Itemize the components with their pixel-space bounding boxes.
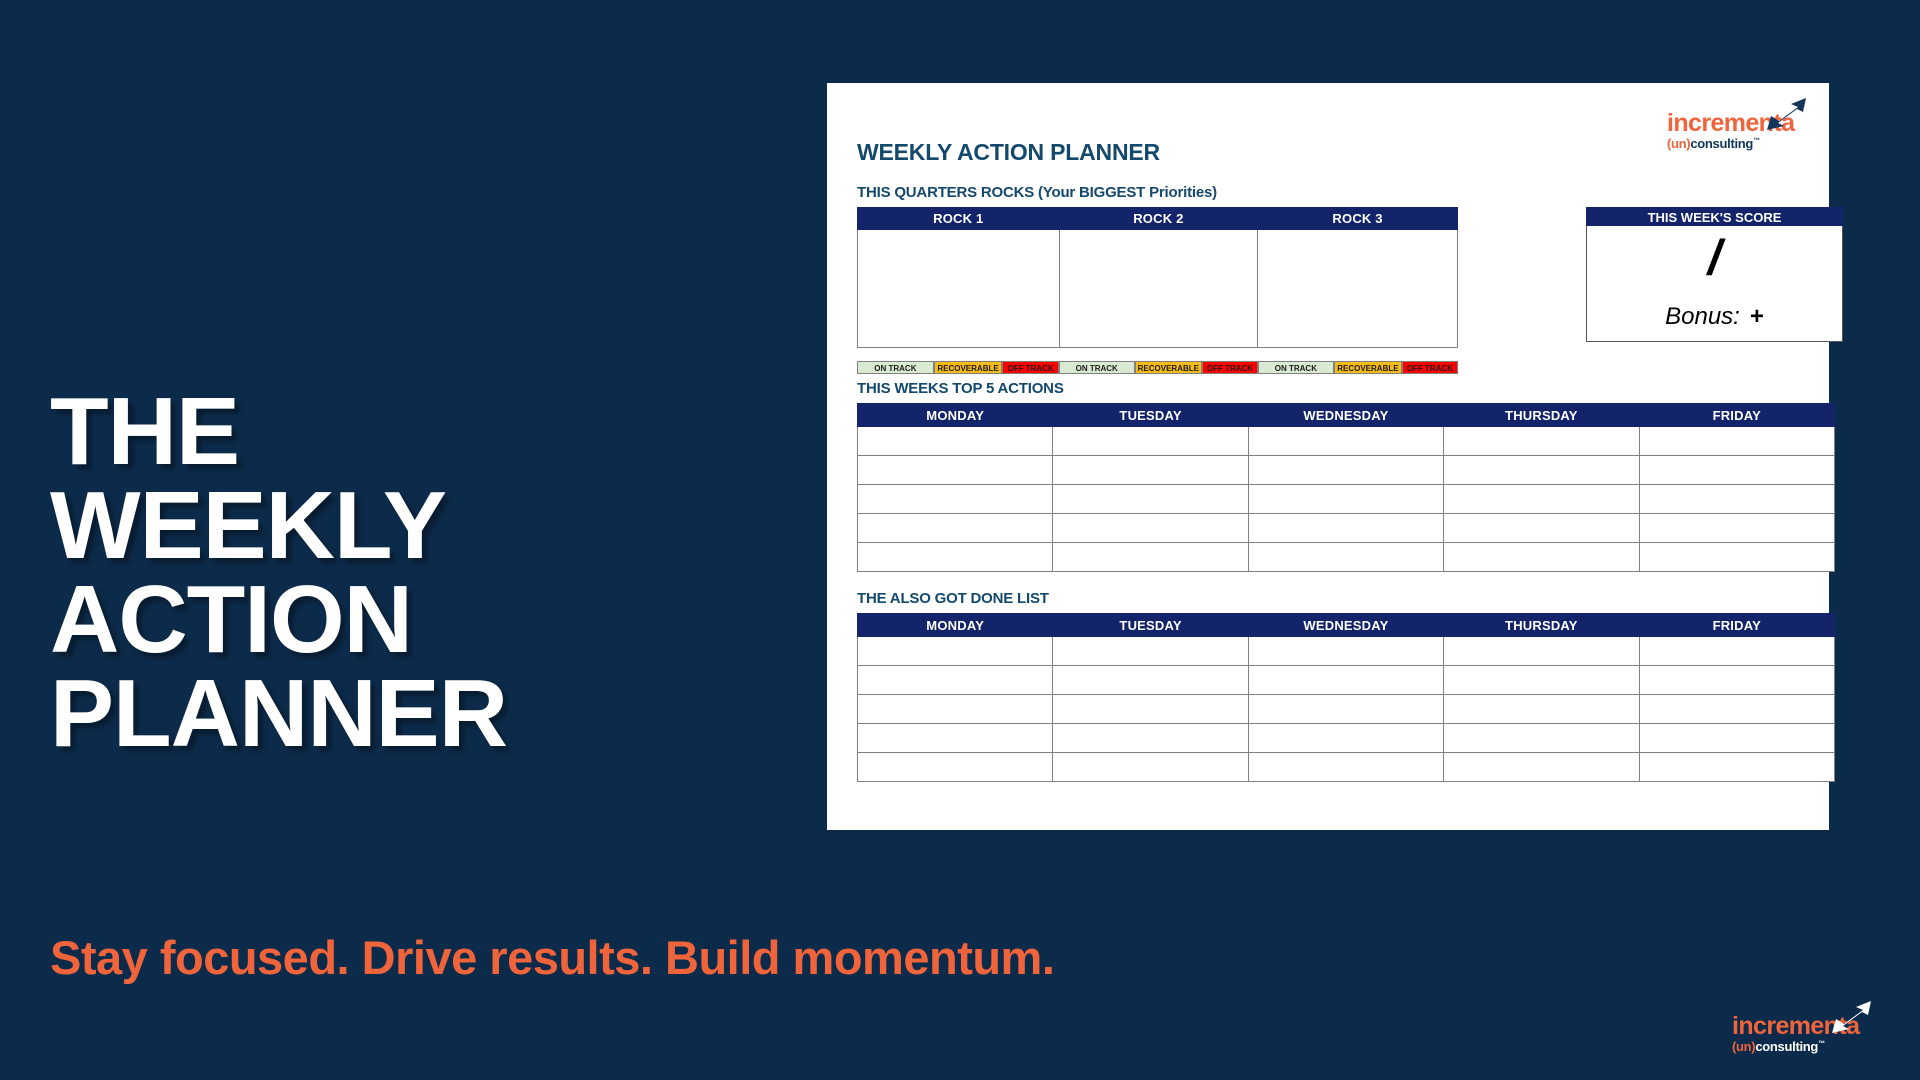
rock-2-status-recoverable[interactable]: RECOVERABLE xyxy=(1135,361,1203,374)
alsodone-cell-r2-c1[interactable] xyxy=(858,666,1053,695)
worksheet-logo-trademark-text: ™ xyxy=(1753,138,1760,145)
alsodone-cell-r3-c5[interactable] xyxy=(1639,695,1834,724)
alsodone-cell-r5-c3[interactable] xyxy=(1248,753,1443,782)
alsodone-cell-r1-c1[interactable] xyxy=(858,637,1053,666)
alsodone-cell-r1-c5[interactable] xyxy=(1639,637,1834,666)
rock-3-status-group: ON TRACK RECOVERABLE OFF TRACK xyxy=(1258,361,1458,374)
alsodone-cell-r4-c3[interactable] xyxy=(1248,724,1443,753)
alsodone-day-header-tuesday: TUESDAY xyxy=(1053,614,1248,637)
logo-trademark-text: ™ xyxy=(1818,1041,1825,1048)
weekly-score-header: THIS WEEK'S SCORE xyxy=(1586,207,1843,226)
top5-cell-r2-c3[interactable] xyxy=(1248,456,1443,485)
rock-3-status-off-track[interactable]: OFF TRACK xyxy=(1402,361,1458,374)
weekly-score-body[interactable]: / Bonus:+ xyxy=(1586,226,1843,342)
top5-cell-r1-c3[interactable] xyxy=(1248,427,1443,456)
section-label-top5: THIS WEEKS TOP 5 ACTIONS xyxy=(857,380,1807,397)
alsodone-cell-r3-c1[interactable] xyxy=(858,695,1053,724)
rock-header-3: ROCK 3 xyxy=(1258,208,1458,230)
rock-2-status-off-track[interactable]: OFF TRACK xyxy=(1202,361,1258,374)
top5-cell-r5-c3[interactable] xyxy=(1248,543,1443,572)
rock-3-status-recoverable[interactable]: RECOVERABLE xyxy=(1334,361,1402,374)
weekly-score-bonus[interactable]: Bonus:+ xyxy=(1587,303,1842,331)
top5-cell-r3-c5[interactable] xyxy=(1639,485,1834,514)
table-row xyxy=(858,695,1835,724)
top5-day-header-monday: MONDAY xyxy=(858,404,1053,427)
top5-cell-r5-c5[interactable] xyxy=(1639,543,1834,572)
footer-logo: incrementa (un)consulting™ xyxy=(1732,1000,1872,1062)
rock-input-3[interactable] xyxy=(1258,230,1458,348)
alsodone-cell-r1-c4[interactable] xyxy=(1444,637,1639,666)
page-title: THE WEEKLY ACTION PLANNER xyxy=(50,385,670,761)
alsodone-day-header-monday: MONDAY xyxy=(858,614,1053,637)
top5-cell-r3-c1[interactable] xyxy=(858,485,1053,514)
alsodone-cell-r4-c5[interactable] xyxy=(1639,724,1834,753)
alsodone-day-header-thursday: THURSDAY xyxy=(1444,614,1639,637)
weekly-score-bonus-value[interactable]: + xyxy=(1740,303,1764,330)
top5-cell-r1-c2[interactable] xyxy=(1053,427,1248,456)
logo-tagline: (un)consulting™ xyxy=(1732,1039,1825,1054)
worksheet-arrow-icon xyxy=(1765,97,1807,131)
top5-actions-table: MONDAY TUESDAY WEDNESDAY THURSDAY FRIDAY xyxy=(857,403,1835,572)
alsodone-cell-r2-c5[interactable] xyxy=(1639,666,1834,695)
table-row xyxy=(858,637,1835,666)
rock-input-1[interactable] xyxy=(858,230,1060,348)
alsodone-cell-r5-c5[interactable] xyxy=(1639,753,1834,782)
alsodone-cell-r5-c2[interactable] xyxy=(1053,753,1248,782)
worksheet-logo-un-text: (un) xyxy=(1667,136,1690,151)
worksheet-card: incrementa (un)consulting™ WEEKLY ACTION… xyxy=(827,83,1829,830)
top5-day-header-friday: FRIDAY xyxy=(1639,404,1834,427)
page-title-line-2: WEEKLY xyxy=(50,479,670,573)
alsodone-cell-r3-c2[interactable] xyxy=(1053,695,1248,724)
rock-2-status-on-track[interactable]: ON TRACK xyxy=(1059,361,1135,374)
rock-header-2: ROCK 2 xyxy=(1059,208,1258,230)
alsodone-cell-r3-c3[interactable] xyxy=(1248,695,1443,724)
top5-day-header-tuesday: TUESDAY xyxy=(1053,404,1248,427)
alsodone-cell-r2-c3[interactable] xyxy=(1248,666,1443,695)
alsodone-cell-r3-c4[interactable] xyxy=(1444,695,1639,724)
rocks-header-row: ROCK 1 ROCK 2 ROCK 3 xyxy=(858,208,1458,230)
table-row xyxy=(858,543,1835,572)
top5-cell-r2-c5[interactable] xyxy=(1639,456,1834,485)
arrow-icon xyxy=(1830,1000,1872,1034)
rock-3-status-on-track[interactable]: ON TRACK xyxy=(1258,361,1334,374)
logo-un-text: (un) xyxy=(1732,1039,1755,1054)
top5-cell-r5-c2[interactable] xyxy=(1053,543,1248,572)
rock-input-2[interactable] xyxy=(1059,230,1258,348)
top5-cell-r5-c4[interactable] xyxy=(1444,543,1639,572)
table-row xyxy=(858,427,1835,456)
page-title-line-3: ACTION xyxy=(50,573,670,667)
top5-cell-r4-c1[interactable] xyxy=(858,514,1053,543)
table-row xyxy=(858,485,1835,514)
top5-cell-r1-c5[interactable] xyxy=(1639,427,1834,456)
rocks-status-row: ON TRACK RECOVERABLE OFF TRACK ON TRACK … xyxy=(857,361,1458,374)
top5-cell-r2-c1[interactable] xyxy=(858,456,1053,485)
rocks-area: ROCK 1 ROCK 2 ROCK 3 ON TRACK RECOVERABL… xyxy=(857,207,1807,362)
alsodone-cell-r4-c1[interactable] xyxy=(858,724,1053,753)
alsodone-cell-r4-c2[interactable] xyxy=(1053,724,1248,753)
top5-cell-r1-c1[interactable] xyxy=(858,427,1053,456)
alsodone-cell-r5-c1[interactable] xyxy=(858,753,1053,782)
top5-cell-r2-c4[interactable] xyxy=(1444,456,1639,485)
page-title-line-4: PLANNER xyxy=(50,667,670,761)
top5-cell-r1-c4[interactable] xyxy=(1444,427,1639,456)
alsodone-day-header-wednesday: WEDNESDAY xyxy=(1248,614,1443,637)
also-got-done-table: MONDAY TUESDAY WEDNESDAY THURSDAY FRIDAY xyxy=(857,613,1835,782)
worksheet-title: WEEKLY ACTION PLANNER xyxy=(857,139,1807,166)
top5-cell-r3-c3[interactable] xyxy=(1248,485,1443,514)
table-row xyxy=(858,666,1835,695)
table-row xyxy=(858,753,1835,782)
top5-day-header-wednesday: WEDNESDAY xyxy=(1248,404,1443,427)
tagline: Stay focused. Drive results. Build momen… xyxy=(50,930,1054,985)
top5-cell-r3-c4[interactable] xyxy=(1444,485,1639,514)
rock-1-status-on-track[interactable]: ON TRACK xyxy=(857,361,934,374)
top5-cell-r4-c2[interactable] xyxy=(1053,514,1248,543)
page-title-line-1: THE xyxy=(50,385,670,479)
top5-cell-r4-c5[interactable] xyxy=(1639,514,1834,543)
alsodone-cell-r4-c4[interactable] xyxy=(1444,724,1639,753)
table-row xyxy=(858,514,1835,543)
rocks-table: ROCK 1 ROCK 2 ROCK 3 xyxy=(857,207,1458,348)
rock-2-status-group: ON TRACK RECOVERABLE OFF TRACK xyxy=(1059,361,1258,374)
section-label-rocks: THIS QUARTERS ROCKS (Your BIGGEST Priori… xyxy=(857,184,1807,201)
alsodone-cell-r1-c2[interactable] xyxy=(1053,637,1248,666)
rock-1-status-off-track[interactable]: OFF TRACK xyxy=(1002,361,1059,374)
top5-cell-r3-c2[interactable] xyxy=(1053,485,1248,514)
section-label-alsodone: THE ALSO GOT DONE LIST xyxy=(857,590,1807,607)
rock-1-status-group: ON TRACK RECOVERABLE OFF TRACK xyxy=(857,361,1059,374)
top5-day-header-thursday: THURSDAY xyxy=(1444,404,1639,427)
alsodone-day-header-friday: FRIDAY xyxy=(1639,614,1834,637)
top5-header-row: MONDAY TUESDAY WEDNESDAY THURSDAY FRIDAY xyxy=(858,404,1835,427)
alsodone-cell-r1-c3[interactable] xyxy=(1248,637,1443,666)
alsodone-cell-r5-c4[interactable] xyxy=(1444,753,1639,782)
weekly-score-bonus-label: Bonus: xyxy=(1665,303,1740,330)
table-row xyxy=(858,724,1835,753)
rock-1-status-recoverable[interactable]: RECOVERABLE xyxy=(934,361,1003,374)
rocks-body-row xyxy=(858,230,1458,348)
top5-cell-r2-c2[interactable] xyxy=(1053,456,1248,485)
weekly-score-box: THIS WEEK'S SCORE / Bonus:+ xyxy=(1586,207,1843,342)
rock-header-1: ROCK 1 xyxy=(858,208,1060,230)
weekly-score-value[interactable]: / xyxy=(1587,234,1842,283)
logo-consulting-text: consulting xyxy=(1755,1039,1818,1054)
worksheet-logo-tagline: (un)consulting™ xyxy=(1667,136,1760,151)
worksheet-logo-consulting-text: consulting xyxy=(1690,136,1753,151)
table-row xyxy=(858,456,1835,485)
top5-cell-r4-c4[interactable] xyxy=(1444,514,1639,543)
alsodone-cell-r2-c2[interactable] xyxy=(1053,666,1248,695)
worksheet-logo: incrementa (un)consulting™ xyxy=(1667,97,1807,159)
top5-cell-r5-c1[interactable] xyxy=(858,543,1053,572)
alsodone-cell-r2-c4[interactable] xyxy=(1444,666,1639,695)
top5-cell-r4-c3[interactable] xyxy=(1248,514,1443,543)
alsodone-header-row: MONDAY TUESDAY WEDNESDAY THURSDAY FRIDAY xyxy=(858,614,1835,637)
